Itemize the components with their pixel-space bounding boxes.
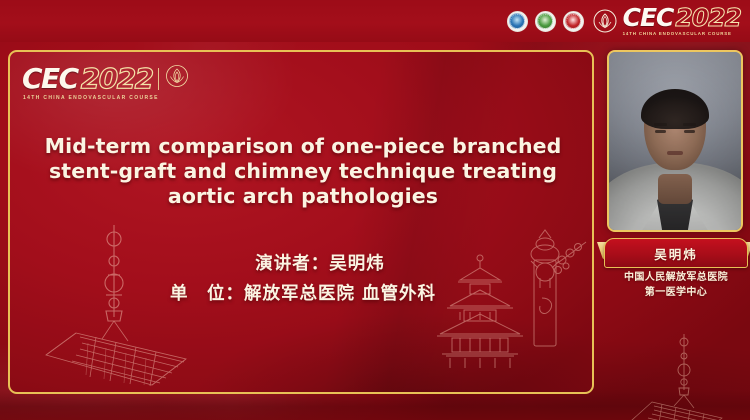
speaker-video-image [609, 52, 741, 230]
presenter-name-line: 演讲者：吴明炜 [10, 249, 594, 279]
cec-subtitle: 14TH CHINA ENDOVASCULAR COURSE [623, 31, 732, 37]
cec-wordmark-slide: CEC 2022 14TH CHINA ENDOVASCULAR COURSE [22, 64, 189, 102]
oriental-pearl-tower-decoration [618, 332, 738, 420]
presenter-block: 演讲者：吴明炜 单 位：解放军总医院 血管外科 [10, 249, 594, 309]
speaker-sidebar: 吴明炜 中国人民解放军总医院 第一医学中心 [600, 42, 750, 420]
speaker-affiliation: 中国人民解放军总医院 第一医学中心 [604, 270, 748, 300]
cec-wordmark-topbar: CEC 2022 14TH CHINA ENDOVASCULAR COURSE [623, 5, 741, 37]
logo-divider [158, 68, 160, 90]
slide-panel: CEC 2022 14TH CHINA ENDOVASCULAR COURSE … [8, 50, 594, 394]
speaker-name-banner: 吴明炜 [604, 238, 748, 268]
cec-letters: CEC [22, 65, 78, 93]
slide-light-overlay [10, 52, 592, 392]
speaker-name: 吴明炜 [654, 244, 698, 263]
org-logo-green-icon [535, 11, 556, 32]
lotus-emblem-icon [165, 64, 189, 93]
cec-letters: CEC [623, 5, 674, 30]
organization-logos [507, 11, 584, 32]
speaker-affiliation-line-2: 第一医学中心 [604, 285, 748, 300]
cec-year: 2022 [81, 65, 153, 93]
cec-year: 2022 [675, 5, 741, 30]
cec-subtitle: 14TH CHINA ENDOVASCULAR COURSE [23, 95, 159, 102]
speaker-video-feed[interactable] [607, 50, 743, 232]
speaker-affiliation-line-1: 中国人民解放军总医院 [604, 270, 748, 285]
top-logo-bar: CEC 2022 14TH CHINA ENDOVASCULAR COURSE [0, 0, 750, 42]
presentation-stage: CEC 2022 14TH CHINA ENDOVASCULAR COURSE [0, 0, 750, 420]
org-logo-blue-icon [507, 11, 528, 32]
lotus-emblem-icon [593, 9, 617, 33]
org-logo-red-icon [563, 11, 584, 32]
presenter-affiliation-line: 单 位：解放军总医院 血管外科 [10, 279, 594, 309]
page-title: Mid-term comparison of one-piece branche… [40, 134, 566, 209]
